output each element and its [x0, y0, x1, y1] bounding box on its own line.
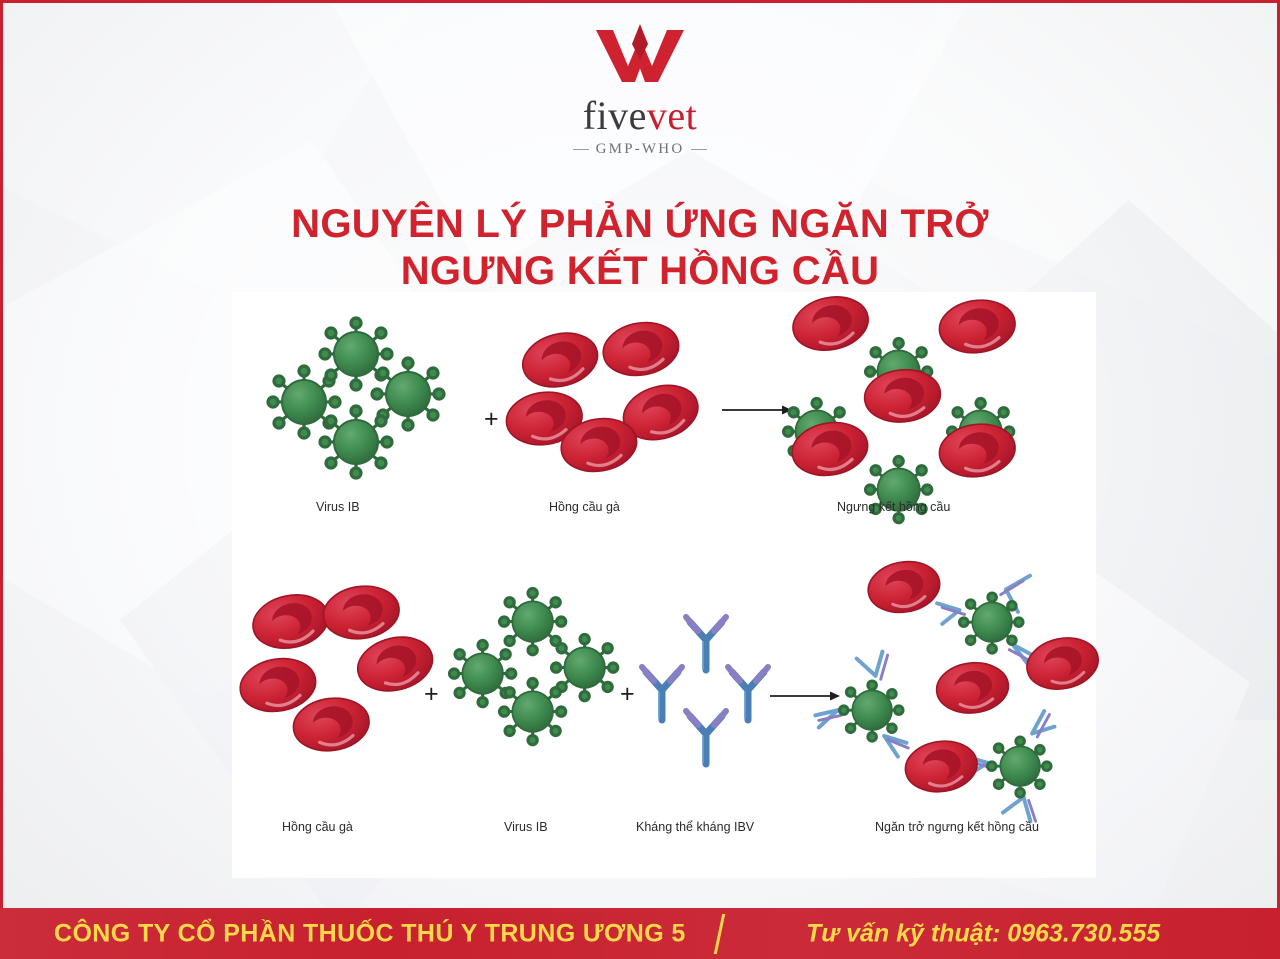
label-ngung-ket-row1: Ngưng kết hồng cầu [837, 500, 950, 514]
agglutination-lattice [794, 312, 1014, 497]
antibody [686, 711, 726, 764]
dash-left-icon [573, 149, 589, 150]
brand-logo: fivevet GMP-WHO [0, 22, 1280, 158]
operator-plus-2: + [424, 682, 439, 707]
brand-word-five: five [583, 93, 647, 138]
red-blood-cell [936, 295, 1018, 357]
rbc-group-row1 [507, 322, 697, 482]
virus-particle [320, 406, 392, 478]
virus-particle [500, 678, 566, 744]
red-blood-cell [320, 581, 402, 643]
footer-company-name: CÔNG TY CỔ PHẦN THUỐC THÚ Y TRUNG ƯƠNG 5 [54, 919, 686, 948]
red-blood-cell [934, 659, 1011, 716]
red-blood-cell [788, 290, 873, 357]
operator-plus-3: + [620, 682, 635, 707]
page-title: NGUYÊN LÝ PHẢN ỨNG NGĂN TRỞ NGƯNG KẾT HỒ… [0, 201, 1280, 295]
title-line-1: NGUYÊN LÝ PHẢN ỨNG NGĂN TRỞ [291, 202, 989, 246]
label-hong-cau-ga-row2: Hồng cầu gà [282, 820, 353, 834]
antibody-coated-virus [815, 652, 908, 757]
slide-root: fivevet GMP-WHO NGUYÊN LÝ PHẢN ỨNG NGĂN … [0, 0, 1280, 959]
inhibition-scatter [844, 560, 1084, 810]
footer-hotline: Tư vấn kỹ thuật: 0963.730.555 [806, 919, 1160, 948]
virus-particle [500, 588, 566, 654]
red-blood-cell [902, 737, 980, 797]
footer-bar: CÔNG TY CỔ PHẦN THUỐC THÚ Y TRUNG ƯƠNG 5… [0, 908, 1280, 959]
antibody-group [636, 610, 776, 770]
label-virus-ib-row1: Virus IB [316, 500, 360, 514]
red-blood-cell [864, 556, 944, 618]
operator-arrow-2 [770, 690, 840, 702]
virus-group-row1 [262, 322, 452, 482]
red-blood-cell [599, 317, 683, 381]
antibody-coated-virus [937, 576, 1035, 667]
antibody [728, 667, 768, 720]
brand-word-vet: vet [647, 93, 697, 138]
fivevet-chevron-logo-icon [592, 22, 688, 90]
red-blood-cell [517, 326, 603, 395]
label-hong-cau-ga-row1: Hồng cầu gà [549, 500, 620, 514]
title-line-2: NGƯNG KẾT HỒNG CẦU [0, 248, 1280, 295]
red-blood-cell [248, 588, 333, 655]
brand-certification: GMP-WHO [573, 141, 708, 158]
rbc-group-row2 [242, 592, 432, 762]
label-ngan-tro-ngung-ket: Ngăn trở ngưng kết hồng cầu [875, 820, 1039, 834]
virus-group-row2 [444, 600, 624, 760]
red-blood-cell [1022, 632, 1103, 696]
dash-right-icon [691, 149, 707, 150]
operator-arrow-1 [722, 404, 792, 416]
brand-wordmark: fivevet [583, 96, 698, 136]
certification-label: GMP-WHO [596, 141, 685, 158]
operator-plus-1: + [484, 407, 499, 432]
antibody [686, 617, 726, 670]
label-khang-the-khang-ibv: Kháng thể kháng IBV [636, 820, 754, 834]
diagram-panel: Virus IB + [232, 292, 1096, 878]
label-virus-ib-row2: Virus IB [504, 820, 548, 834]
antibody [642, 667, 682, 720]
